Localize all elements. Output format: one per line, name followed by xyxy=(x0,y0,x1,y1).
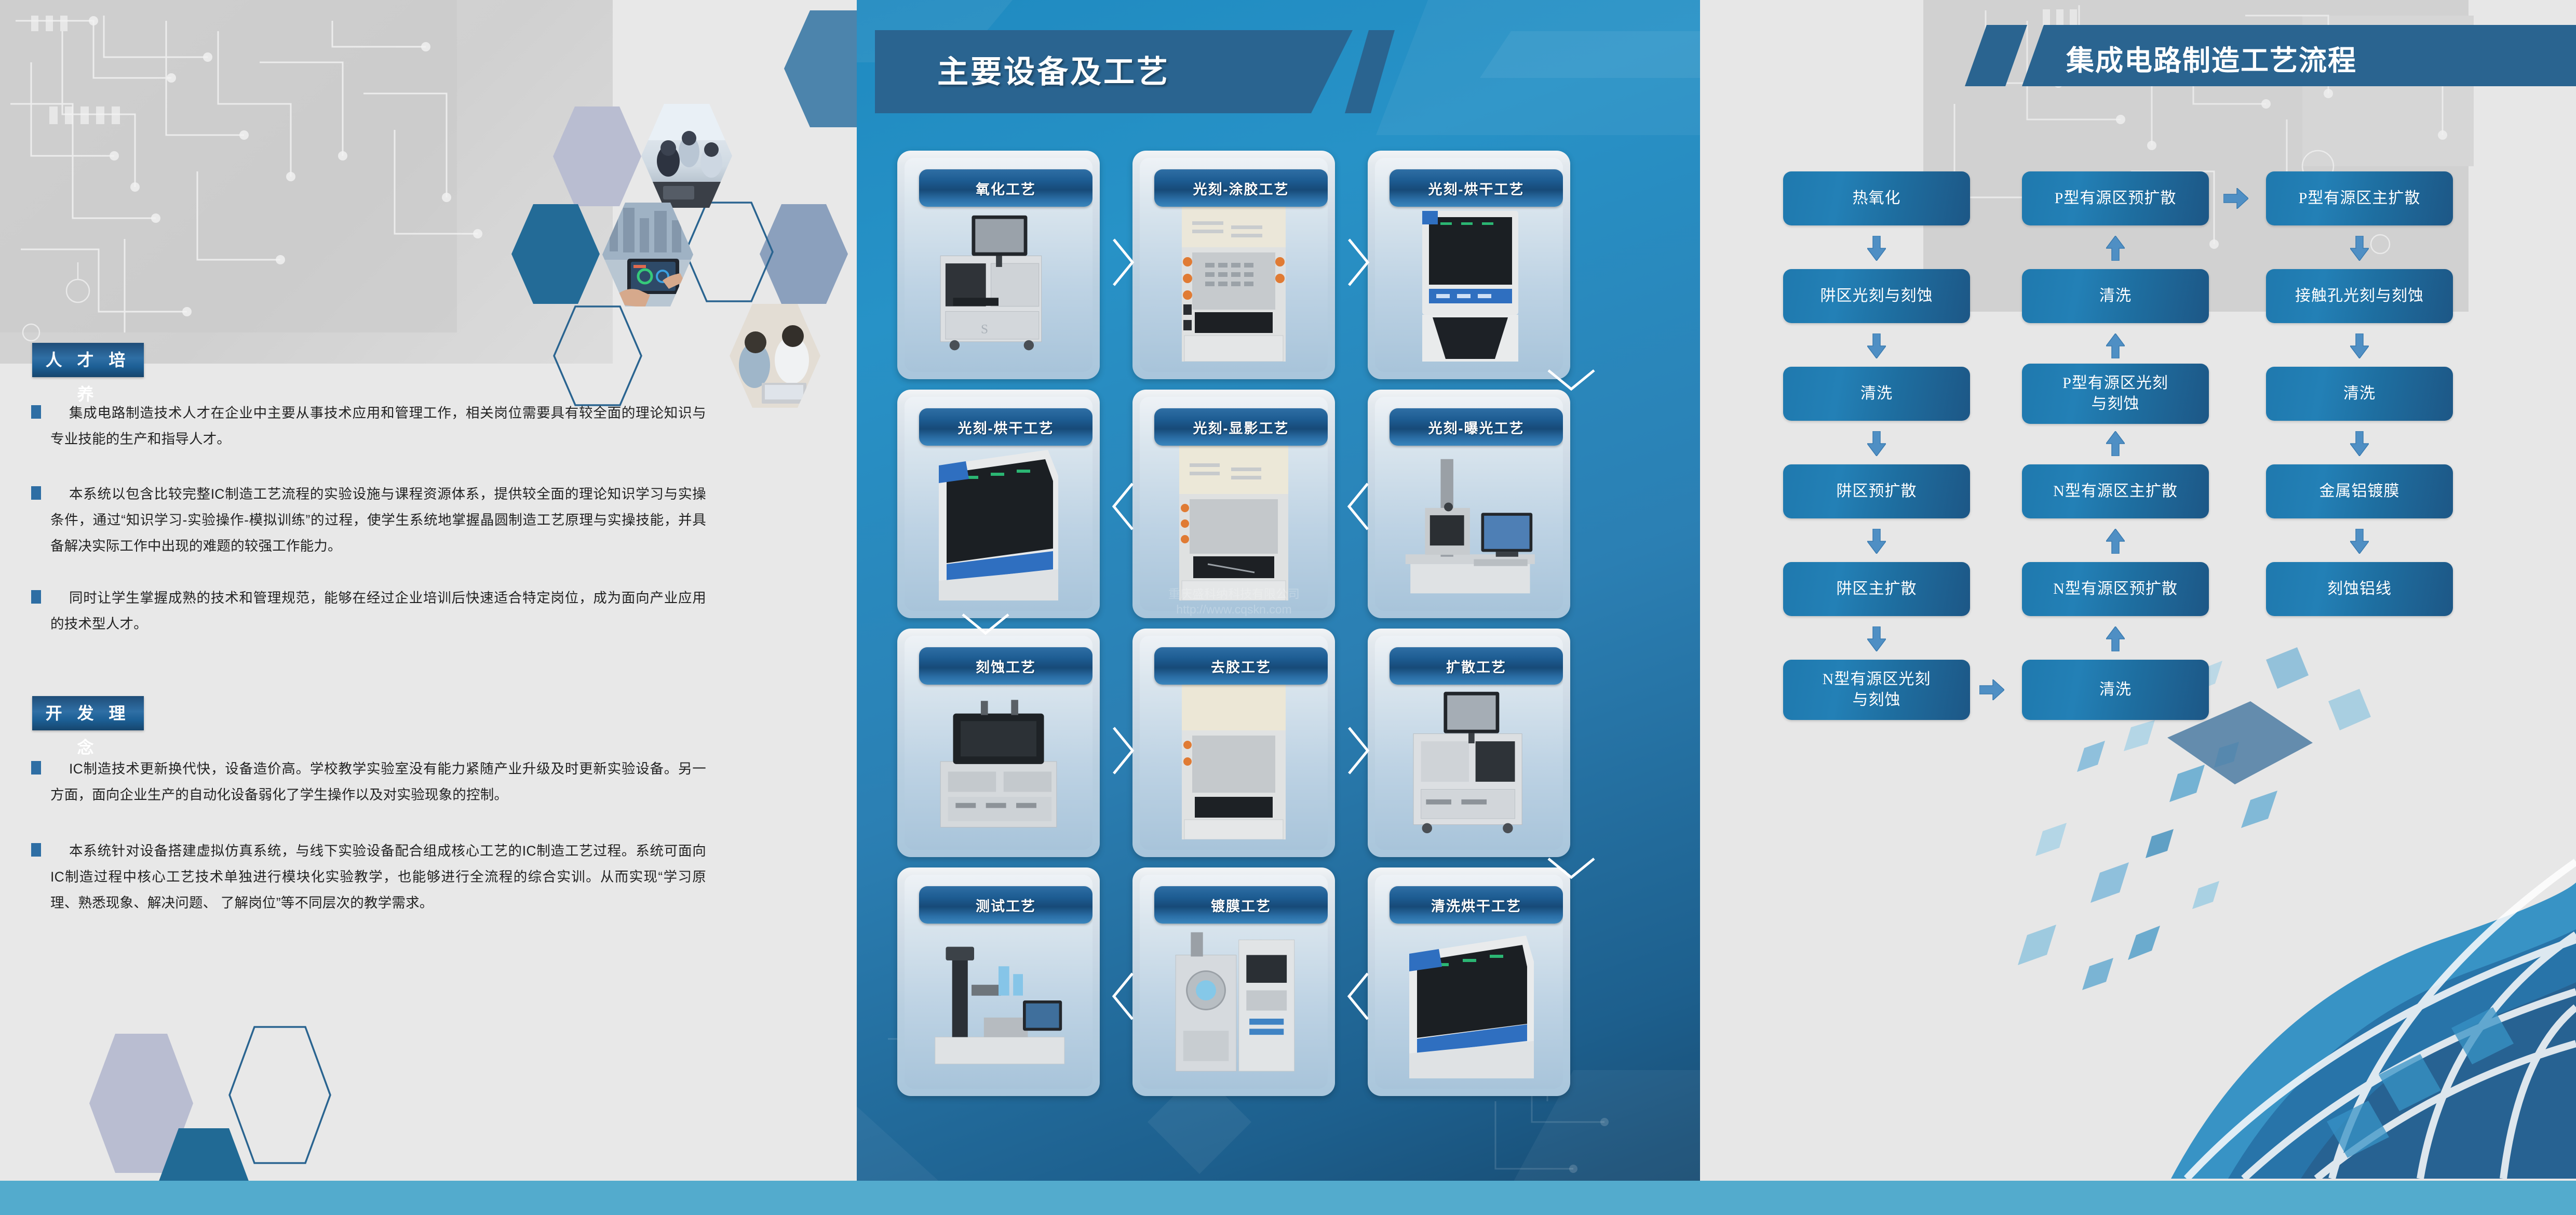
equipment-card-body: 光刻-烘干工艺 xyxy=(905,397,1093,611)
equipment-card[interactable]: 光刻-显影工艺 xyxy=(1132,390,1335,618)
photo-hex-tablet-factory xyxy=(602,203,693,309)
paragraph-text: 同时让学生掌握成熟的技术和管理规范，能够在经过企业培训后快速适合特定岗位，成为面… xyxy=(50,585,706,637)
arrow-up-icon xyxy=(2106,529,2125,554)
sputter-photo xyxy=(1161,932,1307,1078)
equipment-card-body: 光刻-曝光工艺 xyxy=(1375,397,1563,611)
equipment-card-body: 光刻-烘干工艺 xyxy=(1375,158,1563,372)
chevron-left-icon xyxy=(1110,480,1137,532)
equipment-card[interactable]: 扩散工艺 xyxy=(1368,629,1570,857)
paragraph: 集成电路制造技术人才在企业中主要从事技术应用和管理工作，相关岗位需要具有较全面的… xyxy=(31,400,706,452)
hex-decor-outline-2 xyxy=(553,305,642,406)
svg-text:S: S xyxy=(981,322,988,336)
equipment-card[interactable]: 光刻-烘干工艺 xyxy=(1368,151,1570,379)
arrow-up-icon xyxy=(2106,626,2125,651)
paragraph: 本系统以包含比较完整IC制造工艺流程的实验设施与课程资源体系，提供较全面的理论知… xyxy=(31,481,706,559)
flow-step-box[interactable]: N型有源区预扩散 xyxy=(2022,562,2209,616)
chevron-right-icon xyxy=(1345,236,1372,288)
chevron-down-icon xyxy=(1545,854,1597,882)
center-title-block: 主要设备及工艺 xyxy=(875,30,1394,113)
stripper-hood-photo xyxy=(1161,693,1307,839)
equipment-card[interactable]: 光刻-曝光工艺 xyxy=(1368,390,1570,618)
flow-step-box[interactable]: 阱区光刻与刻蚀 xyxy=(1783,269,1970,323)
arrow-up-icon xyxy=(2106,431,2125,456)
equipment-card[interactable]: 测试工艺 xyxy=(897,867,1100,1096)
chevron-down-icon xyxy=(1545,366,1597,393)
chevron-right-icon xyxy=(1345,725,1372,777)
arrow-down-icon xyxy=(1867,529,1886,554)
chevron-left-icon xyxy=(1345,480,1372,532)
equipment-card-body: 氧化工艺 S xyxy=(905,158,1093,372)
bullet-square-icon xyxy=(31,486,41,500)
arrow-down-icon xyxy=(2350,529,2369,554)
equipment-card-body: 测试工艺 xyxy=(905,875,1093,1089)
bullet-square-icon xyxy=(31,843,41,857)
equipment-label: 光刻-烘干工艺 xyxy=(1390,169,1563,207)
flow-step-box[interactable]: 热氧化 xyxy=(1783,171,1970,225)
paragraph-text: IC制造技术更新换代快，设备造价高。学校教学实验室没有能力紧随产业升级及时更新实… xyxy=(50,756,706,808)
flow-step-box[interactable]: 清洗 xyxy=(2022,269,2209,323)
arrow-up-icon xyxy=(2106,236,2125,261)
concept-body: IC制造技术更新换代快，设备造价高。学校教学实验室没有能力紧随产业升级及时更新实… xyxy=(31,756,706,933)
etcher-photo xyxy=(925,693,1072,839)
paragraph-text: 本系统以包含比较完整IC制造工艺流程的实验设施与课程资源体系，提供较全面的理论知… xyxy=(50,481,706,559)
flow-step-box[interactable]: P型有源区预扩散 xyxy=(2022,171,2209,225)
chevron-left-icon xyxy=(1345,970,1372,1022)
equipment-label: 光刻-烘干工艺 xyxy=(919,408,1093,446)
arrow-down-icon xyxy=(2350,431,2369,456)
developer-hood-photo xyxy=(1161,454,1307,600)
center-title-slash-icon xyxy=(1345,30,1395,113)
coater-hood-photo xyxy=(1161,215,1307,362)
equipment-label: 氧化工艺 xyxy=(919,169,1093,207)
bottom-accent-bar xyxy=(0,1181,2576,1215)
chevron-right-icon xyxy=(1110,725,1137,777)
arrow-up-icon xyxy=(2106,333,2125,358)
arrow-down-icon xyxy=(2350,333,2369,358)
flow-step-box[interactable]: 金属铝镀膜 xyxy=(2266,464,2453,518)
arrow-down-icon xyxy=(1867,626,1886,651)
oxidation-furnace-photo: S xyxy=(925,215,1072,362)
equipment-label: 刻蚀工艺 xyxy=(919,647,1093,685)
arrow-down-icon xyxy=(1867,333,1886,358)
hex-decor-solid-1 xyxy=(784,10,857,127)
hex-decor-outline-3 xyxy=(228,1026,331,1164)
chevron-left-icon xyxy=(1110,970,1137,1022)
flow-step-box[interactable]: 阱区主扩散 xyxy=(1783,562,1970,616)
equipment-card[interactable]: 刻蚀工艺 xyxy=(897,629,1100,857)
equipment-card-body: 扩散工艺 xyxy=(1375,636,1563,850)
arrow-down-icon xyxy=(1867,236,1886,261)
paragraph: 本系统针对设备搭建虚拟仿真系统，与线下实验设备配合组成核心工艺的IC制造工艺过程… xyxy=(31,838,706,916)
left-panel: 人 才 培 养 集成电路制造技术人才在企业中主要从事技术应用和管理工作，相关岗位… xyxy=(0,0,857,1215)
equipment-card-body: 去胶工艺 xyxy=(1140,636,1328,850)
paragraph-text: 集成电路制造技术人才在企业中主要从事技术应用和管理工作，相关岗位需要具有较全面的… xyxy=(50,400,706,452)
poster-root: 人 才 培 养 集成电路制造技术人才在企业中主要从事技术应用和管理工作，相关岗位… xyxy=(0,0,2576,1215)
flow-step-box[interactable]: 刻蚀铝线 xyxy=(2266,562,2453,616)
flow-step-box[interactable]: 接触孔光刻与刻蚀 xyxy=(2266,269,2453,323)
flow-step-box[interactable]: P型有源区光刻 与刻蚀 xyxy=(2022,364,2209,424)
equipment-card-body: 镀膜工艺 xyxy=(1140,875,1328,1089)
equipment-card-body: 光刻-显影工艺 xyxy=(1140,397,1328,611)
section-heading-talent: 人 才 培 养 xyxy=(32,343,144,377)
equipment-card[interactable]: 氧化工艺 S xyxy=(897,151,1100,379)
equipment-label: 光刻-显影工艺 xyxy=(1154,408,1328,446)
right-panel: 集成电路制造工艺流程 xyxy=(1700,0,2576,1215)
center-title-text: 主要设备及工艺 xyxy=(937,47,1170,92)
paragraph: 同时让学生掌握成熟的技术和管理规范，能够在经过企业培训后快速适合特定岗位，成为面… xyxy=(31,585,706,637)
flow-step-box[interactable]: 清洗 xyxy=(2266,367,2453,421)
flow-step-box[interactable]: N型有源区光刻 与刻蚀 xyxy=(1783,660,1970,720)
right-title-block: 集成电路制造工艺流程 xyxy=(1965,25,2576,86)
diffusion-furnace-photo xyxy=(1396,693,1542,839)
equipment-card[interactable]: 镀膜工艺 xyxy=(1132,867,1335,1096)
prober-photo xyxy=(925,932,1072,1078)
circuit-pattern-icon xyxy=(0,0,613,364)
photo-hex-team-celebration xyxy=(641,104,732,210)
equipment-grid: 氧化工艺 S xyxy=(897,151,1661,1096)
equipment-label: 测试工艺 xyxy=(919,886,1093,924)
bullet-square-icon xyxy=(31,405,41,419)
flow-step-box[interactable]: P型有源区主扩散 xyxy=(2266,171,2453,225)
bake-oven-2-photo xyxy=(925,454,1072,600)
equipment-label: 去胶工艺 xyxy=(1154,647,1328,685)
chevron-right-icon xyxy=(1110,236,1137,288)
talent-body: 集成电路制造技术人才在企业中主要从事技术应用和管理工作，相关岗位需要具有较全面的… xyxy=(31,400,706,655)
paragraph: IC制造技术更新换代快，设备造价高。学校教学实验室没有能力紧随产业升级及时更新实… xyxy=(31,756,706,808)
equipment-label: 扩散工艺 xyxy=(1390,647,1563,685)
arrow-right-icon xyxy=(1979,679,2004,700)
hex-decor-solid-2 xyxy=(511,204,600,304)
bullet-square-icon xyxy=(31,761,41,775)
flow-step-box[interactable]: 阱区预扩散 xyxy=(1783,464,1970,518)
equipment-label: 光刻-曝光工艺 xyxy=(1390,408,1563,446)
equipment-card-body: 刻蚀工艺 xyxy=(905,636,1093,850)
hex-decor-outline-1 xyxy=(684,202,774,302)
equipment-card[interactable]: 光刻-烘干工艺 xyxy=(897,390,1100,618)
bullet-square-icon xyxy=(31,590,41,604)
equipment-card-body: 光刻-涂胶工艺 xyxy=(1140,158,1328,372)
equipment-label: 光刻-涂胶工艺 xyxy=(1154,169,1328,207)
equipment-label: 清洗烘干工艺 xyxy=(1390,886,1563,924)
arrow-down-icon xyxy=(1867,431,1886,456)
flow-step-box[interactable]: 清洗 xyxy=(1783,367,1970,421)
paragraph-text: 本系统针对设备搭建虚拟仿真系统，与线下实验设备配合组成核心工艺的IC制造工艺过程… xyxy=(50,838,706,916)
center-panel: 主要设备及工艺 氧化工艺 xyxy=(857,0,1700,1215)
section-heading-concept: 开 发 理 念 xyxy=(32,696,144,730)
aligner-photo xyxy=(1396,454,1542,600)
right-title-text: 集成电路制造工艺流程 xyxy=(2066,37,2357,78)
process-flowchart: 热氧化 阱区光刻与刻蚀 清洗 阱区预扩散 阱区主扩散 xyxy=(1700,171,2576,951)
hex-decor-light-1 xyxy=(553,106,641,206)
photo-hex-students-laptop xyxy=(730,304,820,410)
equipment-card-body: 清洗烘干工艺 xyxy=(1375,875,1563,1089)
flow-step-box[interactable]: 清洗 xyxy=(2022,660,2209,720)
arrow-down-icon xyxy=(2350,236,2369,261)
bake-oven-photo xyxy=(1396,215,1542,362)
equipment-label: 镀膜工艺 xyxy=(1154,886,1328,924)
chevron-down-icon xyxy=(960,610,1011,637)
equipment-card[interactable]: 清洗烘干工艺 xyxy=(1368,867,1570,1096)
flow-step-box[interactable]: N型有源区主扩散 xyxy=(2022,464,2209,518)
clean-dry-photo xyxy=(1396,932,1542,1078)
arrow-right-icon xyxy=(2223,188,2248,209)
equipment-card[interactable]: 光刻-涂胶工艺 xyxy=(1132,151,1335,379)
equipment-card[interactable]: 去胶工艺 xyxy=(1132,629,1335,857)
right-title-slash-icon xyxy=(1965,25,2027,86)
